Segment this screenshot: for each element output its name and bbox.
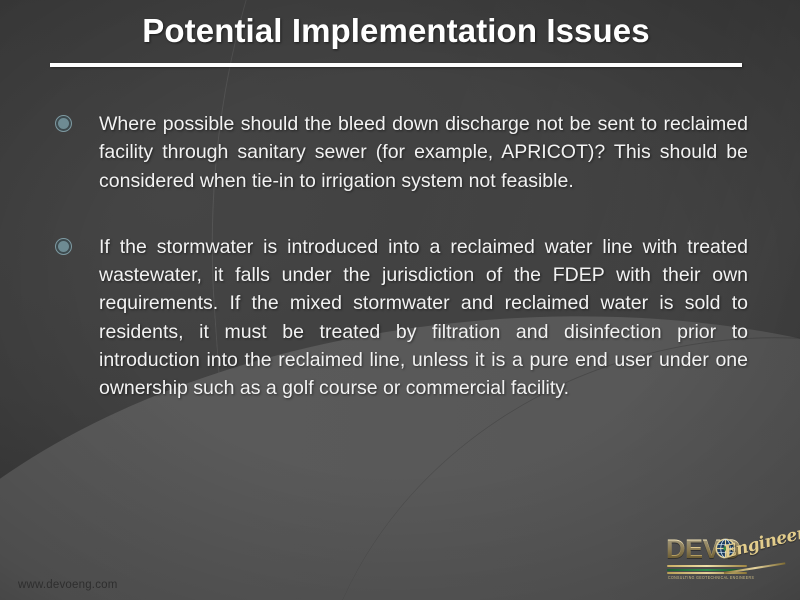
logo-tagline: CONSULTING GEOTECHNICAL ENGINEERS (668, 575, 754, 580)
bullet-list: Where possible should the bleed down dis… (58, 110, 748, 402)
list-item-text: If the stormwater is introduced into a r… (99, 233, 748, 403)
list-item-text: Where possible should the bleed down dis… (99, 110, 748, 195)
ring-bullet-icon (58, 118, 69, 129)
website-url: www.devoeng.com (18, 579, 118, 591)
title-block: Potential Implementation Issues (50, 12, 742, 51)
logo-bar-gold-lower (667, 572, 747, 574)
devo-engineering-logo: DEVO CONSULTING GEOTECHNICAL ENGINEERS E… (662, 534, 790, 586)
ring-bullet-icon (58, 241, 69, 252)
title-divider (50, 63, 742, 67)
list-item: Where possible should the bleed down dis… (58, 110, 748, 195)
list-item: If the stormwater is introduced into a r… (58, 233, 748, 403)
logo-bar-gold (667, 565, 747, 567)
page-title: Potential Implementation Issues (50, 12, 742, 51)
presentation-slide: Potential Implementation Issues Where po… (0, 0, 800, 600)
